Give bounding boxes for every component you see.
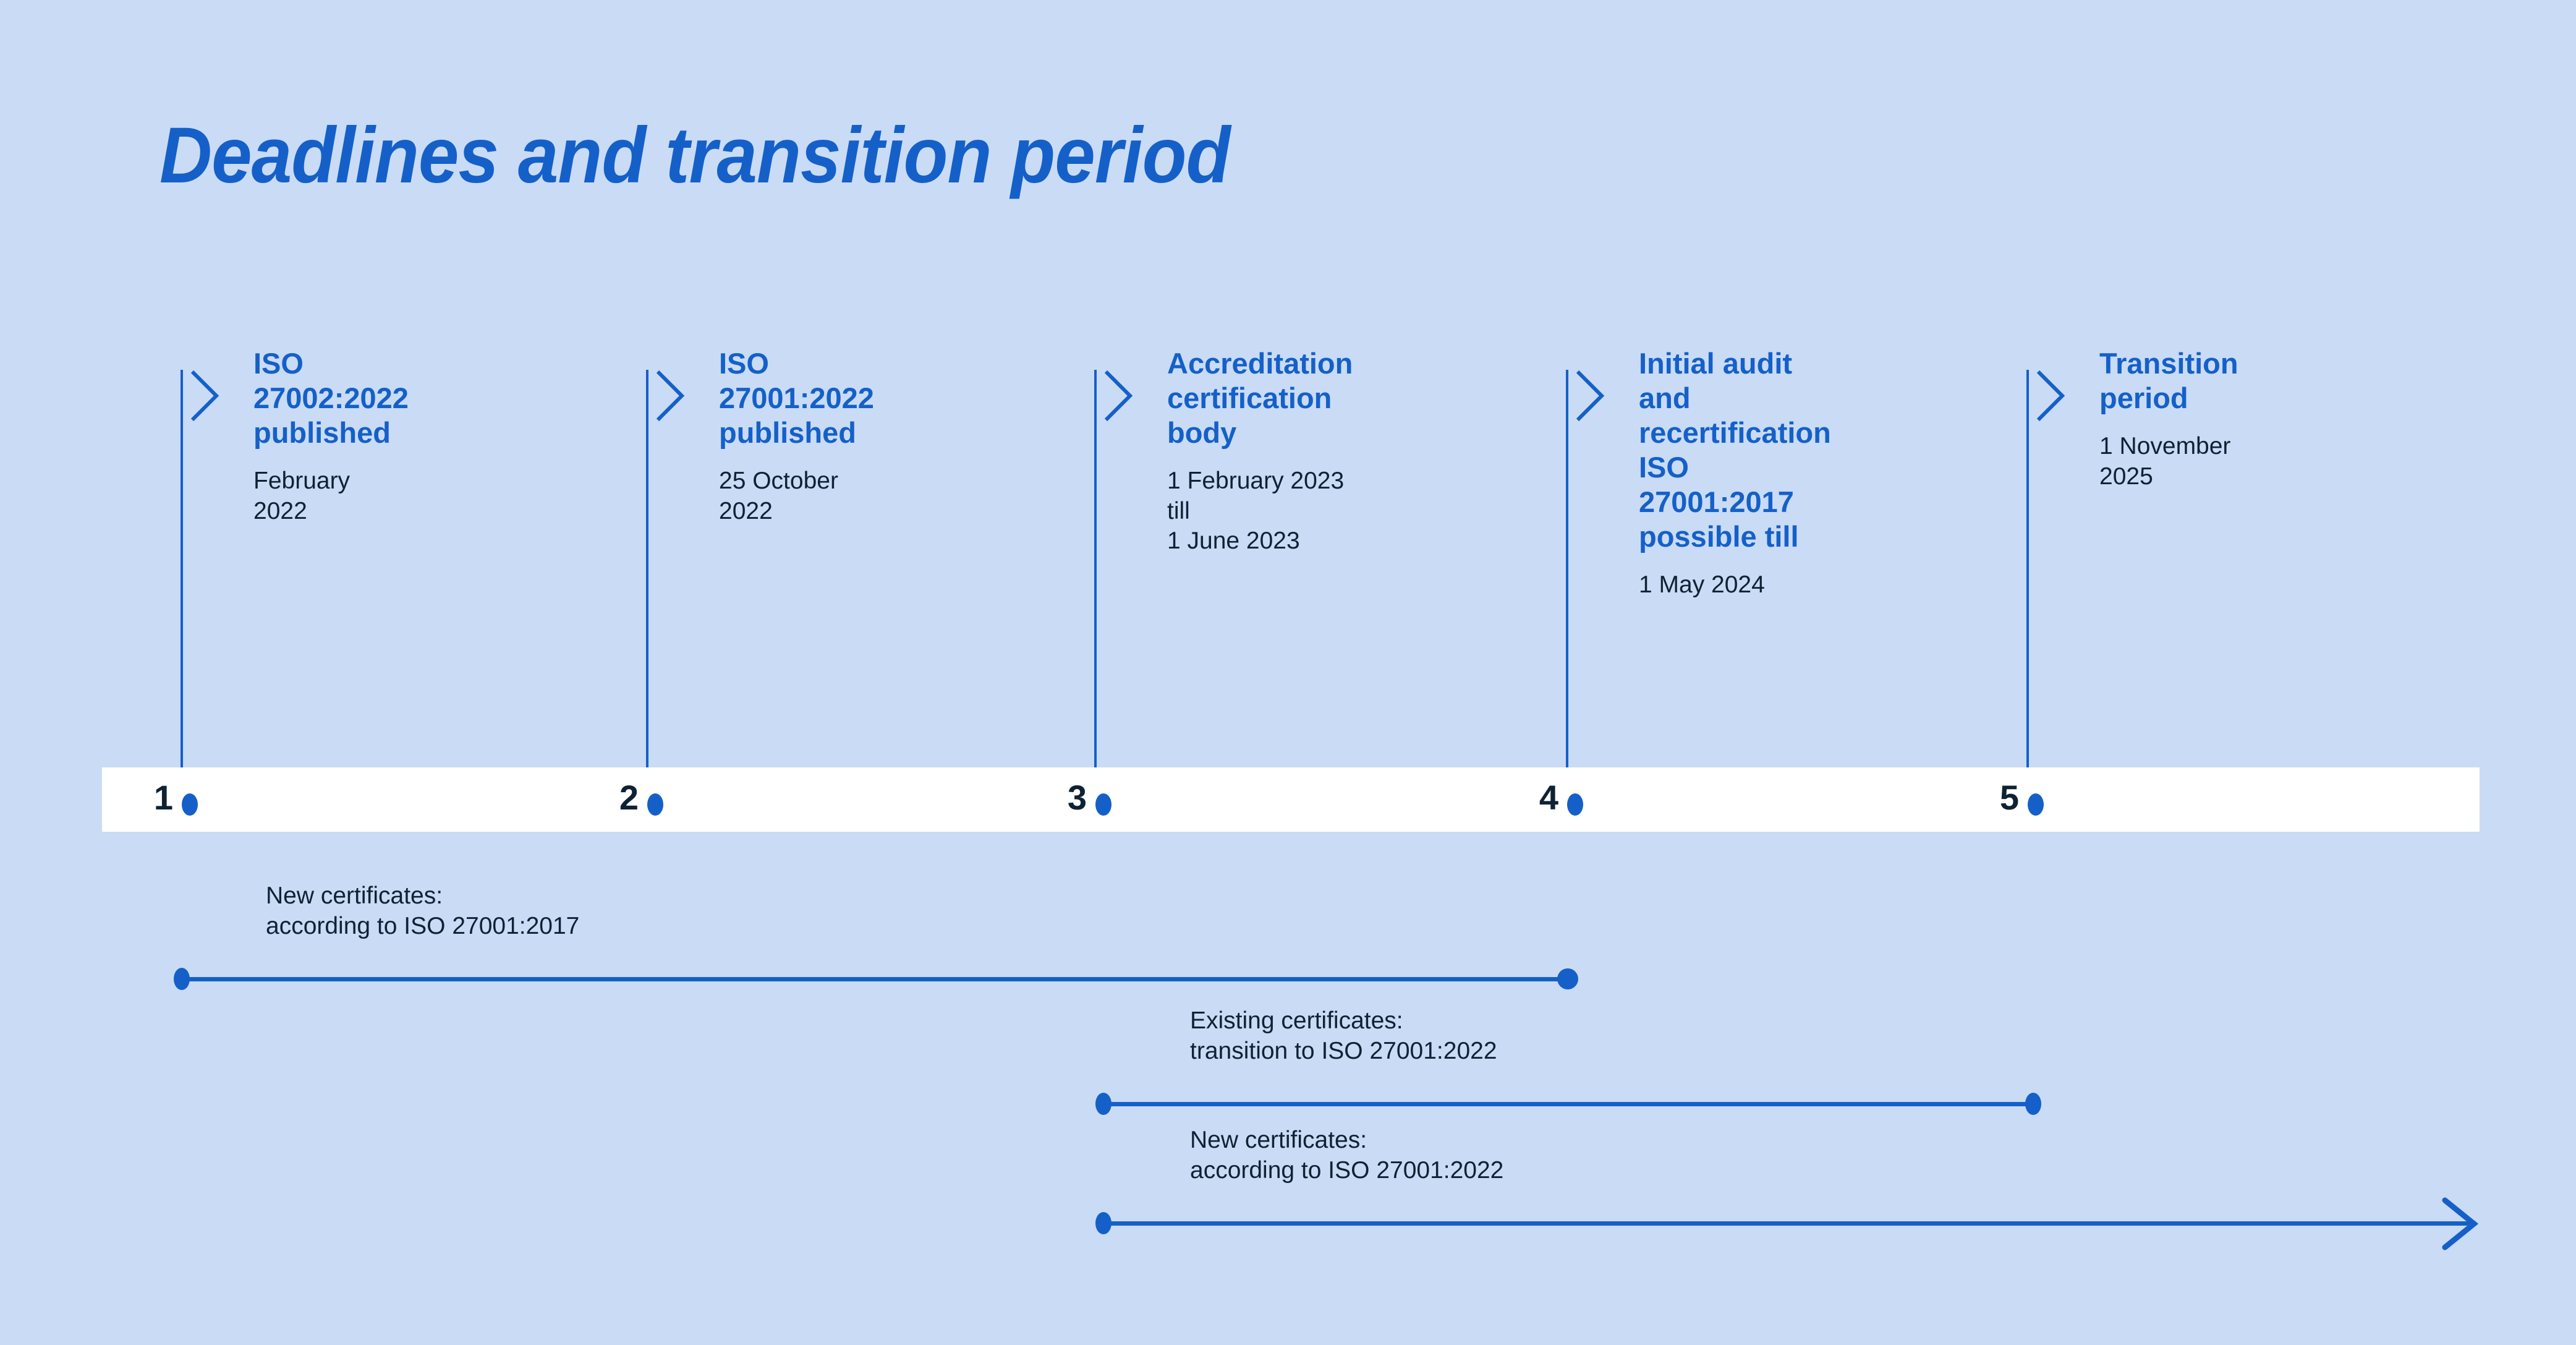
milestone-title: Accreditation certification body: [1167, 346, 1353, 450]
milestone-date: 1 February 2023 till 1 June 2023: [1167, 466, 1353, 557]
range-2-end-dot: [2025, 1093, 2041, 1115]
milestone-date: February 2022: [253, 466, 409, 527]
milestone-stem: [181, 370, 183, 790]
milestone-date: 1 May 2024: [1639, 570, 1831, 600]
milestone-stem: [1566, 370, 1568, 790]
milestone-title: ISO 27002:2022 published: [253, 346, 409, 450]
milestone-text: ISO 27002:2022 published February 2022: [253, 346, 409, 526]
arrow-right-icon: [2442, 1197, 2479, 1250]
milestone-text: Accreditation certification body 1 Febru…: [1167, 346, 1353, 557]
page-title: Deadlines and transition period: [159, 116, 1230, 195]
milestone-stem: [1094, 370, 1097, 790]
chevron-right-icon: [2036, 370, 2065, 422]
milestone-text: Transition period 1 November 2025: [2099, 346, 2238, 492]
tick-dot-3: [1095, 793, 1112, 816]
tick-dot-1: [182, 793, 198, 816]
tick-number-3: 3: [1031, 780, 1087, 815]
milestone-stem: [2026, 370, 2029, 790]
chevron-right-icon: [1576, 370, 1604, 422]
range-1-start-dot: [174, 968, 190, 990]
milestone-stem: [646, 370, 648, 790]
range-1-line: [182, 977, 1574, 981]
range-2-start-dot: [1095, 1093, 1112, 1115]
milestone-text: ISO 27001:2022 published 25 October 2022: [719, 346, 874, 526]
timeline-bar: [102, 767, 2480, 832]
timeline-infographic: Deadlines and transition period ISO 2700…: [0, 0, 2576, 1345]
range-1-label: New certificates: according to ISO 27001…: [266, 881, 579, 942]
milestone-date: 1 November 2025: [2099, 432, 2238, 492]
tick-number-2: 2: [583, 780, 639, 815]
tick-number-5: 5: [1963, 780, 2019, 815]
chevron-right-icon: [190, 370, 219, 422]
tick-number-4: 4: [1503, 780, 1558, 815]
range-2-label: Existing certificates: transition to ISO…: [1190, 1006, 1497, 1067]
chevron-right-icon: [656, 370, 684, 422]
tick-number-1: 1: [117, 780, 173, 815]
range-1-end-dot: [1557, 968, 1578, 989]
milestone-title: Transition period: [2099, 346, 2238, 416]
range-3-start-dot: [1095, 1212, 1112, 1234]
milestone-date: 25 October 2022: [719, 466, 874, 527]
milestone-title: Initial audit and recertification ISO 27…: [1639, 346, 1831, 554]
tick-dot-2: [647, 793, 663, 816]
tick-dot-5: [2028, 793, 2044, 816]
chevron-right-icon: [1104, 370, 1133, 422]
milestone-text: Initial audit and recertification ISO 27…: [1639, 346, 1831, 600]
milestone-title: ISO 27001:2022 published: [719, 346, 874, 450]
range-3-label: New certificates: according to ISO 27001…: [1190, 1125, 1503, 1186]
range-3-line: [1103, 1221, 2476, 1226]
tick-dot-4: [1567, 793, 1583, 816]
range-2-line: [1103, 1102, 2034, 1106]
